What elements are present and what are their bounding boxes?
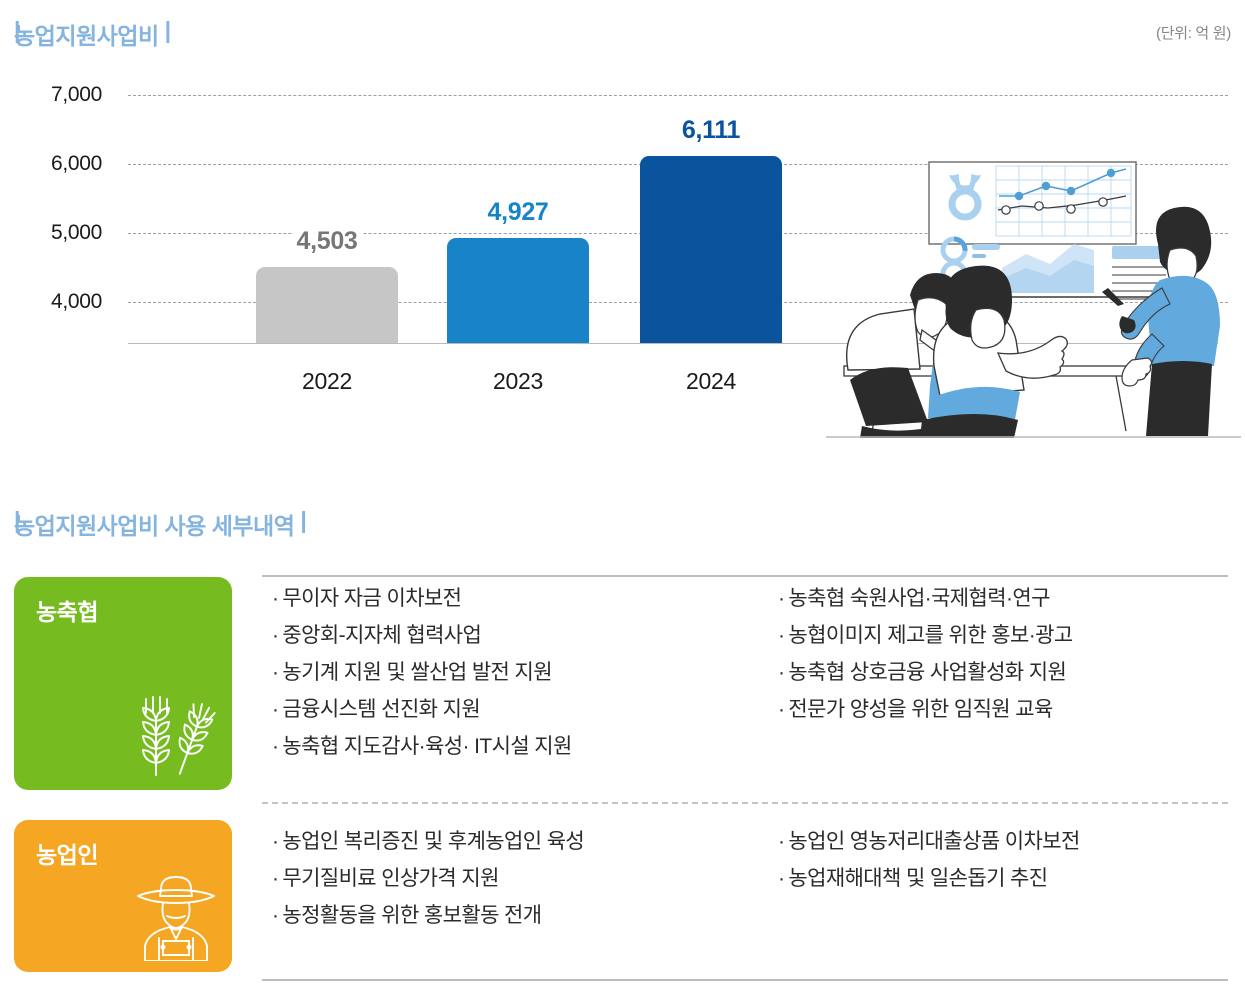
bullet-marker: · (778, 624, 788, 647)
bullet-marker: · (778, 830, 788, 853)
list-item-text: 농협이미지 제고를 위한 홍보·광고 (788, 624, 1072, 647)
detail-title-text: 농업지원사업비 사용 세부내역 (14, 513, 294, 539)
list-item-text: 무기질비료 인상가격 지원 (282, 867, 498, 890)
list-item-text: 농정활동을 위한 홍보활동 전개 (282, 904, 541, 927)
chart-section-title: |농업지원사업비| (14, 17, 159, 51)
title-bar-left: | (14, 17, 26, 44)
chart-unit-label: (단위: 억 원) (1156, 22, 1231, 43)
bullet-column-right: ·농축협 숙원사업·국제협력·연구·농협이미지 제고를 위한 홍보·광고·농축협… (778, 580, 1073, 728)
list-item-text: 농축협 숙원사업·국제협력·연구 (788, 587, 1049, 610)
list-item-text: 농업인 영농저리대출상품 이차보전 (788, 830, 1079, 853)
farmer-icon (130, 869, 222, 966)
bar-value-2022: 4,503 (291, 227, 362, 256)
x-axis-label-2024: 2024 (686, 368, 736, 395)
bullet-marker: · (272, 867, 282, 890)
list-item: ·농업인 영농저리대출상품 이차보전 (778, 823, 1080, 860)
x-axis-label-2023: 2023 (493, 368, 543, 395)
list-item: ·전문가 양성을 위한 임직원 교육 (778, 691, 1073, 728)
bar-2022[interactable] (256, 267, 398, 343)
category-label: 농축협 (36, 593, 98, 627)
detail-table: 농축협 ·무이자 자금 이차보전·중앙회-지자체 협력사업·농기계 지원 및 쌀… (0, 555, 1245, 987)
title-bar-left: | (14, 507, 26, 534)
chart-title-text: 농업지원사업비 (14, 23, 159, 49)
y-axis-tick: 7,000 (51, 83, 102, 107)
y-axis: 4,0005,0006,0007,000 (0, 78, 110, 343)
list-item: ·중앙회-지자체 협력사업 (272, 617, 572, 654)
title-bar-right: | (294, 507, 306, 534)
bullet-marker: · (272, 830, 282, 853)
list-item-text: 농업재해대책 및 일손돕기 추진 (788, 867, 1047, 890)
list-item-text: 농축협 상호금융 사업활성화 지원 (788, 661, 1066, 684)
list-item: ·무이자 자금 이차보전 (272, 580, 572, 617)
bar-2024[interactable] (640, 156, 782, 343)
category-label: 농업인 (36, 836, 98, 870)
bullet-marker: · (272, 661, 282, 684)
bullet-marker: · (778, 661, 788, 684)
category-card-농축협[interactable]: 농축협 (14, 577, 232, 790)
list-item: ·농축협 숙원사업·국제협력·연구 (778, 580, 1073, 617)
list-item: ·농업재해대책 및 일손돕기 추진 (778, 860, 1080, 897)
bar-value-2023: 4,927 (482, 198, 553, 227)
wheat-icon (134, 691, 222, 784)
bullet-marker: · (272, 587, 282, 610)
list-item: ·농정활동을 위한 홍보활동 전개 (272, 897, 584, 934)
bullet-column-right: ·농업인 영농저리대출상품 이차보전·농업재해대책 및 일손돕기 추진 (778, 823, 1080, 897)
bullet-marker: · (272, 698, 282, 721)
infographic-page: |농업지원사업비| (단위: 억 원) 4,0005,0006,0007,000… (0, 0, 1245, 987)
list-item: ·금융시스템 선진화 지원 (272, 691, 572, 728)
row-divider (262, 979, 1228, 981)
bullet-marker: · (272, 904, 282, 927)
list-item: ·농축협 지도감사·육성· IT시설 지원 (272, 728, 572, 765)
list-item: ·무기질비료 인상가격 지원 (272, 860, 584, 897)
list-item-text: 전문가 양성을 위한 임직원 교육 (788, 698, 1052, 721)
bullet-marker: · (778, 587, 788, 610)
list-item-text: 농업인 복리증진 및 후계농업인 육성 (282, 830, 584, 853)
row-divider-dashed (262, 802, 1228, 804)
bullet-marker: · (272, 624, 282, 647)
y-axis-tick: 5,000 (51, 221, 102, 245)
bullet-column-left: ·무이자 자금 이차보전·중앙회-지자체 협력사업·농기계 지원 및 쌀산업 발… (272, 580, 572, 765)
business-presentation-illustration (826, 148, 1241, 438)
bar-chart: 4,0005,0006,0007,000 4,50320224,92720236… (0, 78, 1245, 408)
bullet-marker: · (272, 735, 282, 758)
list-item-text: 금융시스템 선진화 지원 (282, 698, 480, 721)
list-item-text: 무이자 자금 이차보전 (282, 587, 461, 610)
y-axis-tick: 4,000 (51, 290, 102, 314)
list-item-text: 농축협 지도감사·육성· IT시설 지원 (282, 735, 571, 758)
detail-section-title: |농업지원사업비 사용 세부내역| (14, 507, 294, 541)
bullet-marker: · (778, 867, 788, 890)
list-item: ·농축협 상호금융 사업활성화 지원 (778, 654, 1073, 691)
list-item: ·농기계 지원 및 쌀산업 발전 지원 (272, 654, 572, 691)
list-item-text: 중앙회-지자체 협력사업 (282, 624, 481, 647)
row-divider (262, 575, 1228, 577)
x-axis-label-2022: 2022 (302, 368, 352, 395)
bar-value-2024: 6,111 (677, 116, 745, 145)
y-axis-tick: 6,000 (51, 152, 102, 176)
list-item: ·농협이미지 제고를 위한 홍보·광고 (778, 617, 1073, 654)
bar-2023[interactable] (447, 238, 589, 343)
list-item-text: 농기계 지원 및 쌀산업 발전 지원 (282, 661, 552, 684)
category-card-농업인[interactable]: 농업인 (14, 820, 232, 972)
bullet-column-left: ·농업인 복리증진 및 후계농업인 육성·무기질비료 인상가격 지원·농정활동을… (272, 823, 584, 934)
title-bar-right: | (159, 17, 171, 44)
list-item: ·농업인 복리증진 및 후계농업인 육성 (272, 823, 584, 860)
gridline (128, 95, 1228, 96)
bullet-marker: · (778, 698, 788, 721)
